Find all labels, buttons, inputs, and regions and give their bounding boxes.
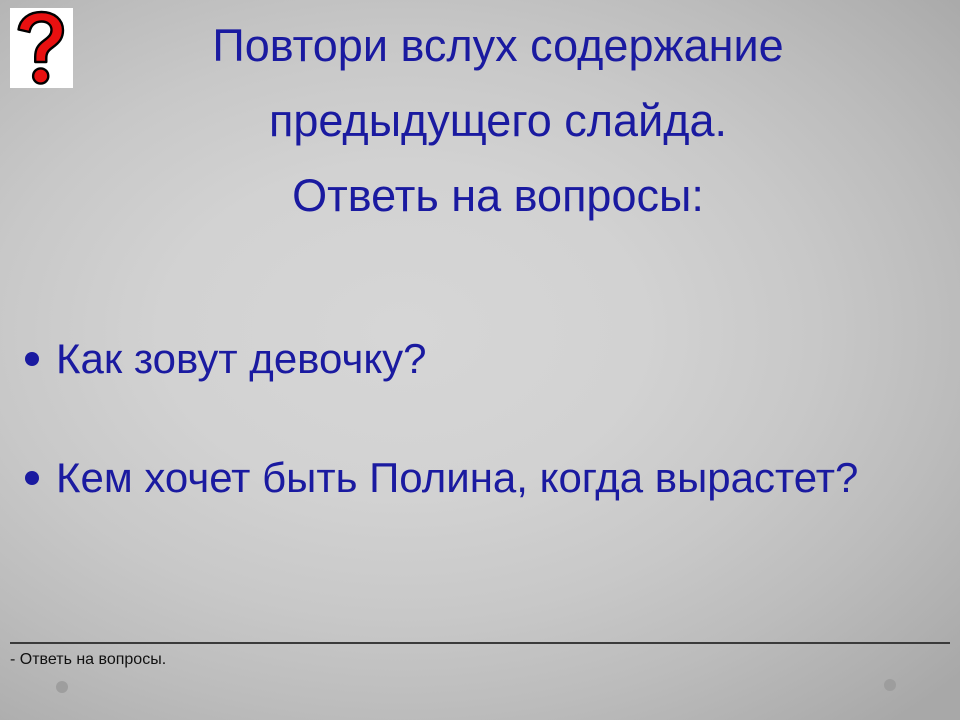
bullet-marker (8, 449, 56, 485)
question-list: Как зовут девочку? Кем хочет быть Полина… (8, 330, 888, 568)
decorative-dot-left (56, 681, 68, 693)
question-mark-glyph (19, 12, 64, 84)
footer-note: - Ответь на вопросы. (10, 650, 166, 670)
title-line-3: Ответь на вопросы: (92, 158, 904, 233)
bullet-dot-icon (25, 471, 39, 485)
bullet-dot-icon (25, 352, 39, 366)
question-text-2: Кем хочет быть Полина, когда вырастет? (56, 449, 888, 506)
bullet-marker (8, 330, 56, 366)
slide-title: Повтори вслух содержание предыдущего сла… (92, 8, 904, 233)
slide-canvas: Повтори вслух содержание предыдущего сла… (0, 0, 960, 720)
list-item: Как зовут девочку? (8, 330, 888, 387)
footer-divider (10, 642, 950, 644)
question-text-1: Как зовут девочку? (56, 330, 888, 387)
question-mark-icon (10, 8, 73, 88)
title-line-2: предыдущего слайда. (92, 83, 904, 158)
title-line-1: Повтори вслух содержание (92, 8, 904, 83)
decorative-dot-right (884, 679, 896, 691)
list-item: Кем хочет быть Полина, когда вырастет? (8, 449, 888, 506)
